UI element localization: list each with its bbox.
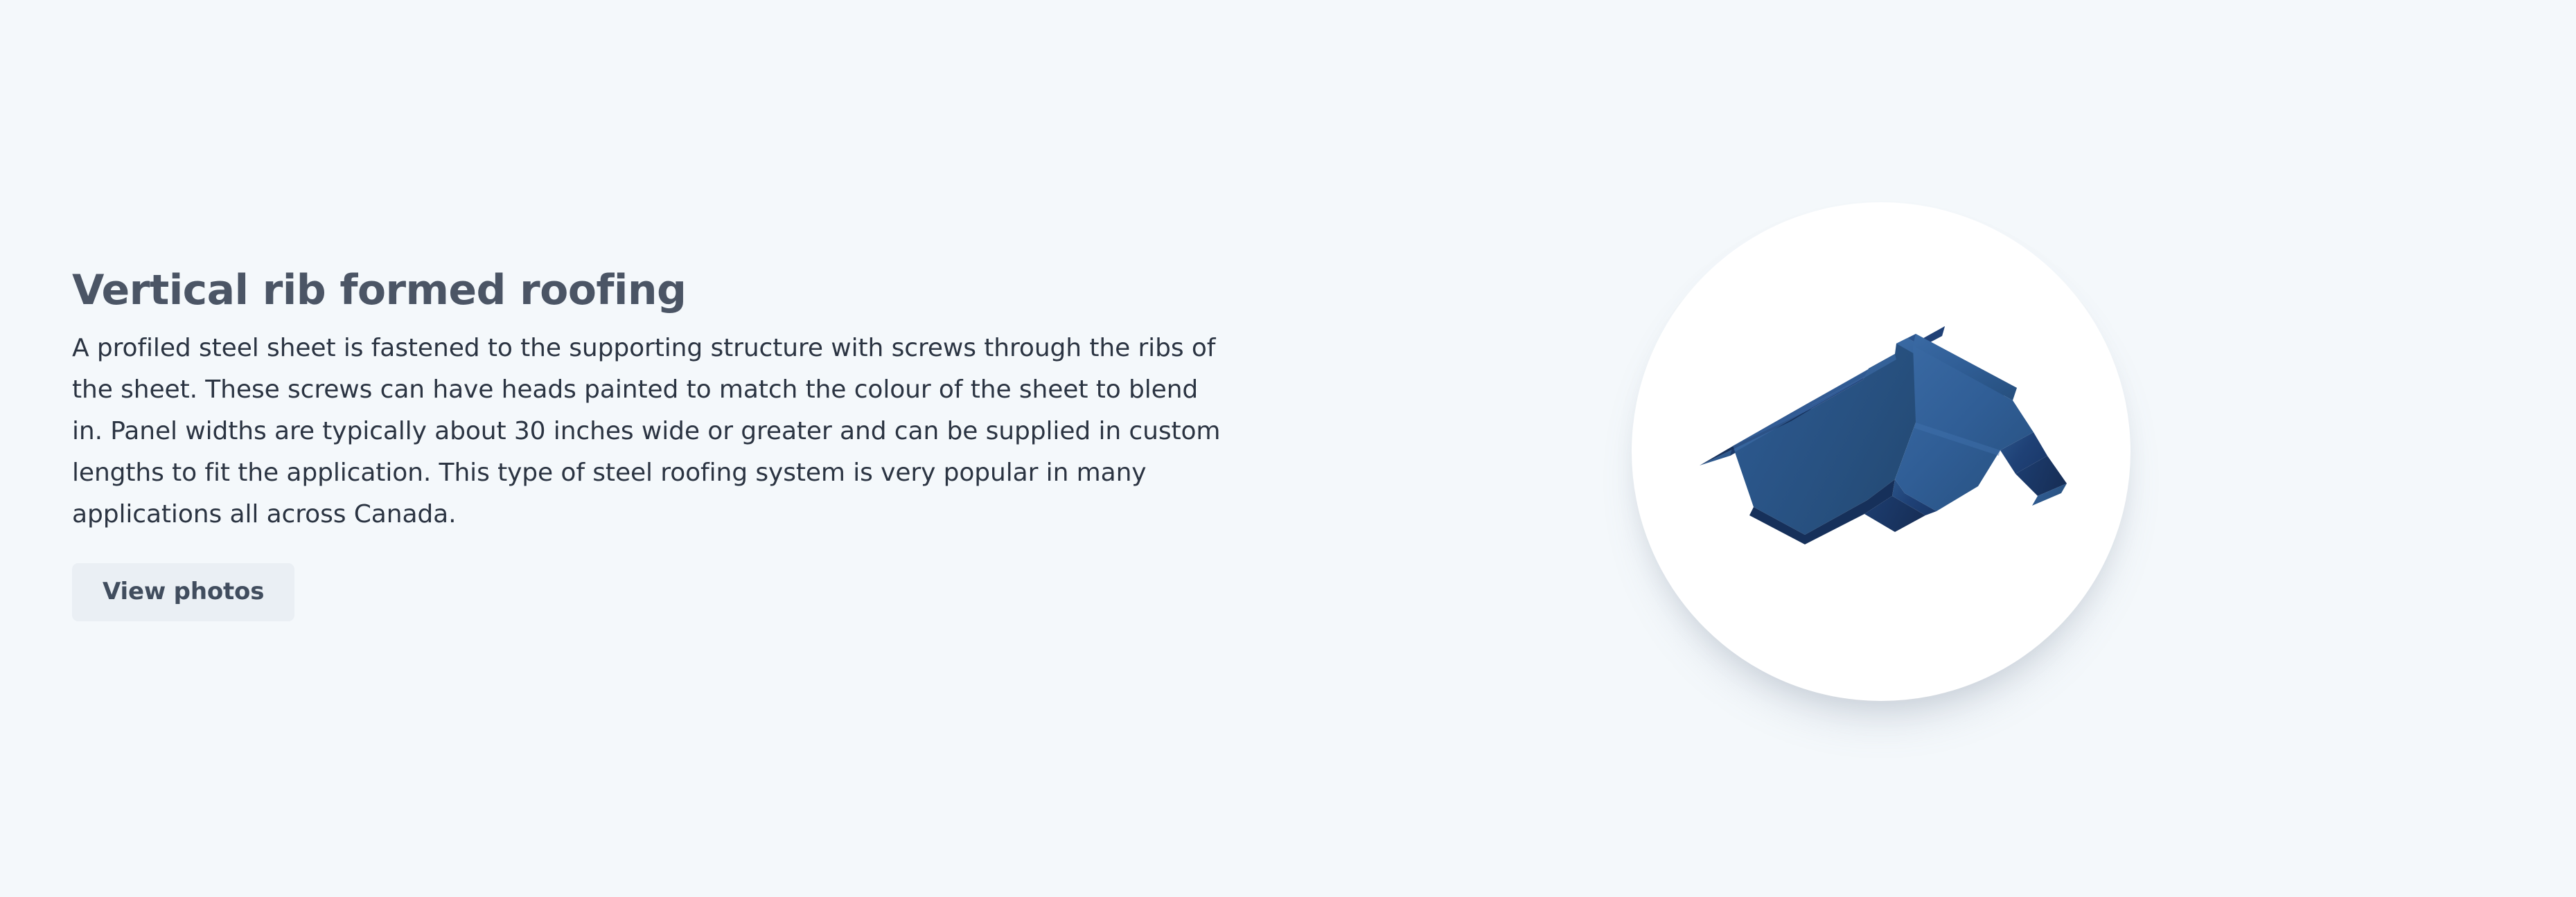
content-column: Vertical rib formed roofing A profiled s… bbox=[72, 267, 1250, 621]
product-feature-section: Vertical rib formed roofing A profiled s… bbox=[0, 0, 2576, 897]
view-photos-button[interactable]: View photos bbox=[72, 563, 294, 621]
cta-container: View photos bbox=[72, 563, 1250, 621]
section-description: A profiled steel sheet is fastened to th… bbox=[72, 328, 1222, 535]
panel-body bbox=[1700, 326, 2067, 544]
product-image-medallion bbox=[1632, 202, 2131, 701]
roof-panel-illustration bbox=[1687, 258, 2075, 646]
page-title: Vertical rib formed roofing bbox=[72, 267, 1250, 314]
